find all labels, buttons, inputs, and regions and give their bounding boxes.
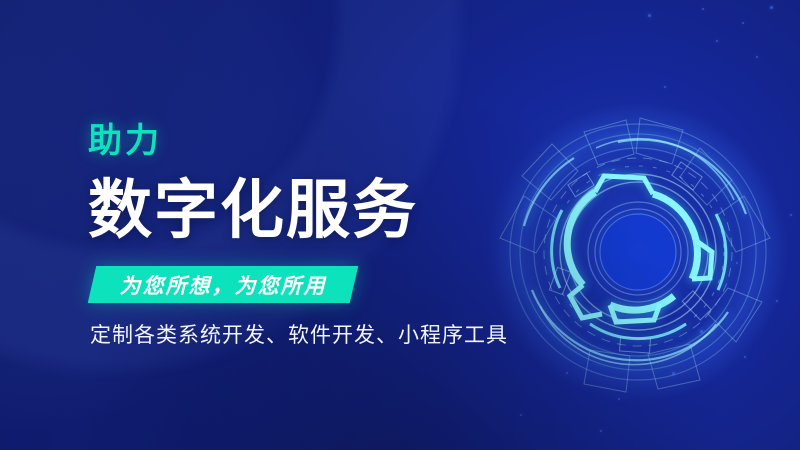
tagline-badge: 为您所想，为您所用 [92, 266, 354, 303]
copy-block: 助力 数字化服务 为您所想，为您所用 定制各类系统开发、软件开发、小程序工具 [88, 124, 518, 346]
eyebrow-text: 助力 [88, 124, 518, 158]
promo-banner: 助力 数字化服务 为您所想，为您所用 定制各类系统开发、软件开发、小程序工具 [0, 0, 800, 450]
tagline-text: 为您所想，为您所用 [92, 266, 354, 303]
subline-text: 定制各类系统开发、软件开发、小程序工具 [90, 325, 518, 346]
page-title: 数字化服务 [88, 178, 518, 242]
